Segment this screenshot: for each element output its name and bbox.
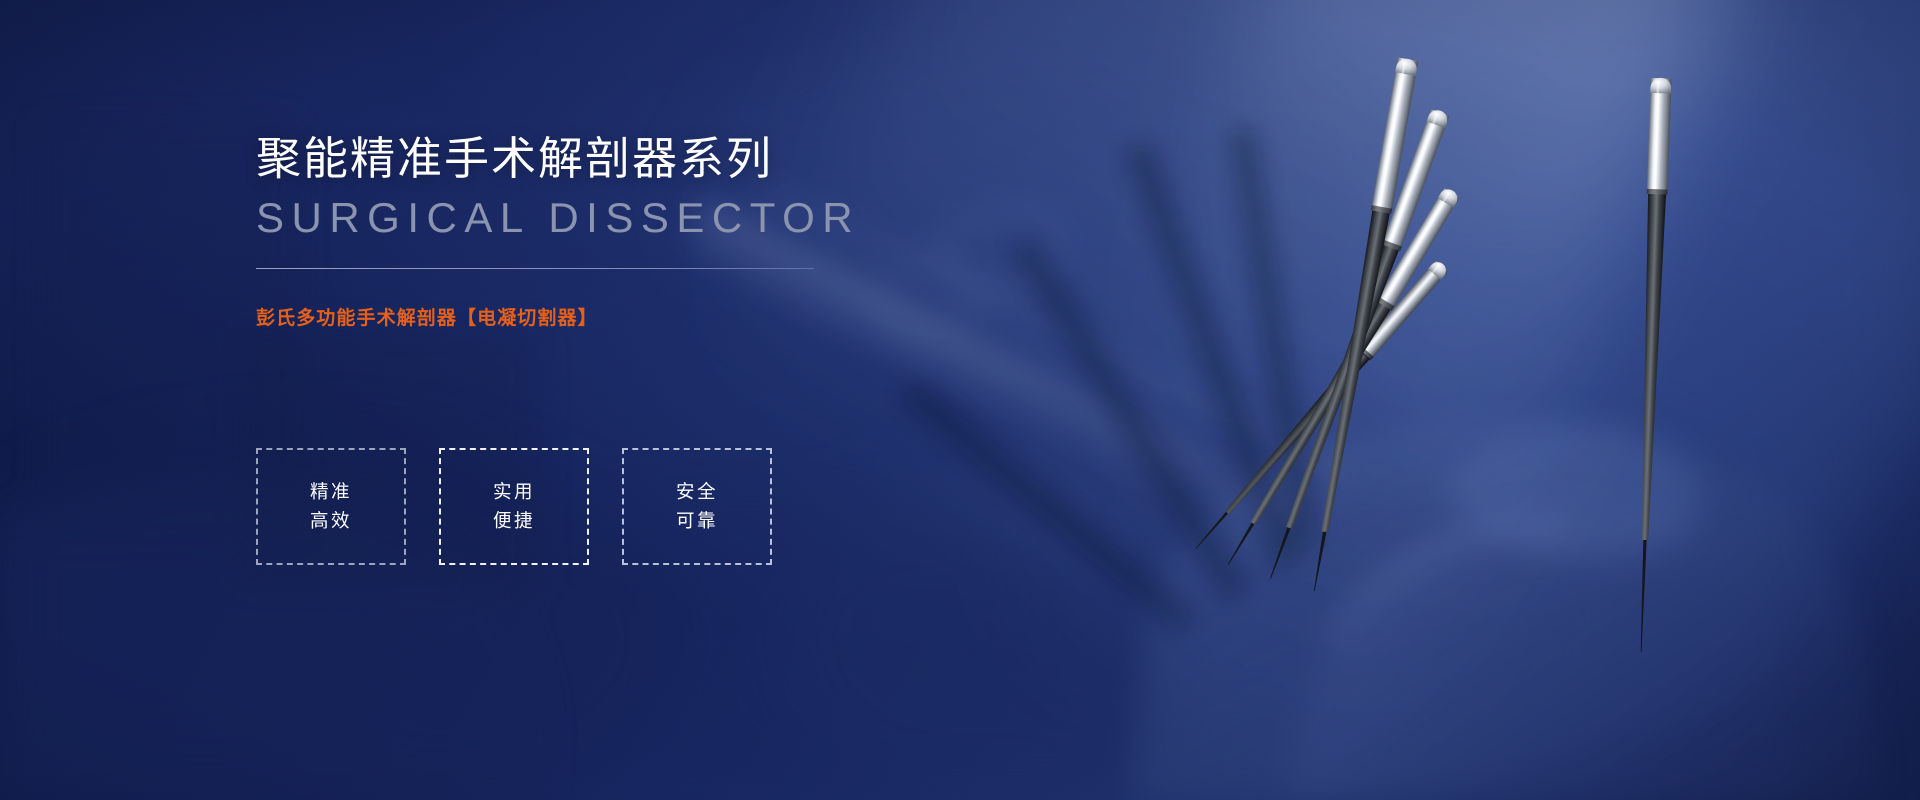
feature-box-precision-line2: 高效 [310, 512, 352, 531]
feature-box-safety-line1: 安全 [676, 483, 718, 502]
feature-box-safety[interactable]: 安全 可靠 [622, 448, 772, 565]
feature-box-practical-line2: 便捷 [493, 512, 535, 531]
feature-box-safety-line2: 可靠 [676, 512, 718, 531]
feature-box-precision[interactable]: 精准 高效 [256, 448, 406, 565]
feature-box-practical[interactable]: 实用 便捷 [439, 448, 589, 565]
feature-box-practical-line1: 实用 [493, 483, 535, 502]
hero-copy: 聚能精准手术解剖器系列 SURGICAL DISSECTOR 彭氏多功能手术解剖… [256, 132, 876, 330]
product-name: 彭氏多功能手术解剖器【电凝切割器】 [256, 303, 876, 330]
feature-box-precision-line1: 精准 [310, 483, 352, 502]
page-subtitle-english: SURGICAL DISSECTOR [256, 196, 876, 240]
edge-vignette [0, 0, 1920, 800]
feature-box-group: 精准 高效 实用 便捷 安全 可靠 [256, 448, 772, 565]
page-title: 聚能精准手术解剖器系列 [256, 132, 876, 185]
divider [256, 268, 814, 269]
hero-banner: 聚能精准手术解剖器系列 SURGICAL DISSECTOR 彭氏多功能手术解剖… [0, 0, 1920, 800]
